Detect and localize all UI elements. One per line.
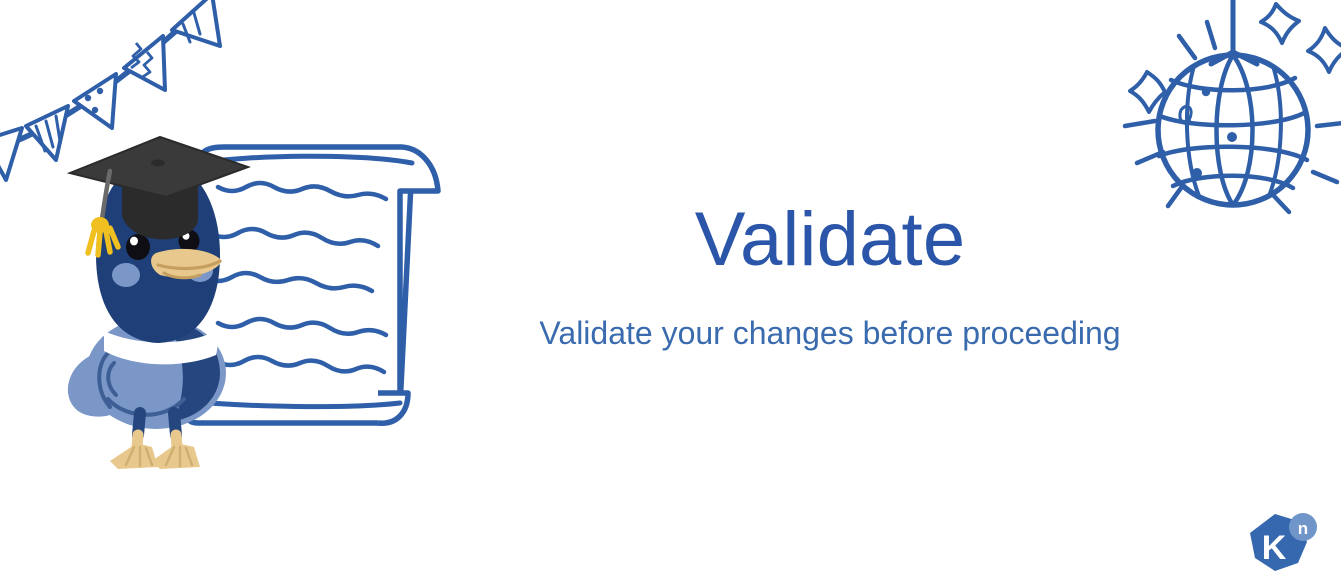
graduate-bird-illustration	[48, 135, 468, 475]
logo-badge-letter: n	[1298, 519, 1308, 538]
page-title: Validate	[470, 200, 1190, 280]
sparkle-2	[1261, 4, 1299, 43]
sparkle-1	[1130, 72, 1165, 112]
brand-logo: K n	[1245, 511, 1319, 577]
bunting-flag-3	[74, 74, 116, 128]
bunting-flag-1	[0, 128, 22, 180]
slide-canvas: Validate Validate your changes before pr…	[0, 0, 1341, 585]
page-subtitle: Validate your changes before proceeding	[470, 314, 1190, 352]
sparkle-3	[1308, 28, 1341, 72]
bunting-flag-5	[172, 0, 220, 46]
bunting-flag-4	[124, 36, 165, 90]
logo-primary-letter: K	[1262, 529, 1287, 567]
title-text-block: Validate Validate your changes before pr…	[470, 200, 1190, 352]
